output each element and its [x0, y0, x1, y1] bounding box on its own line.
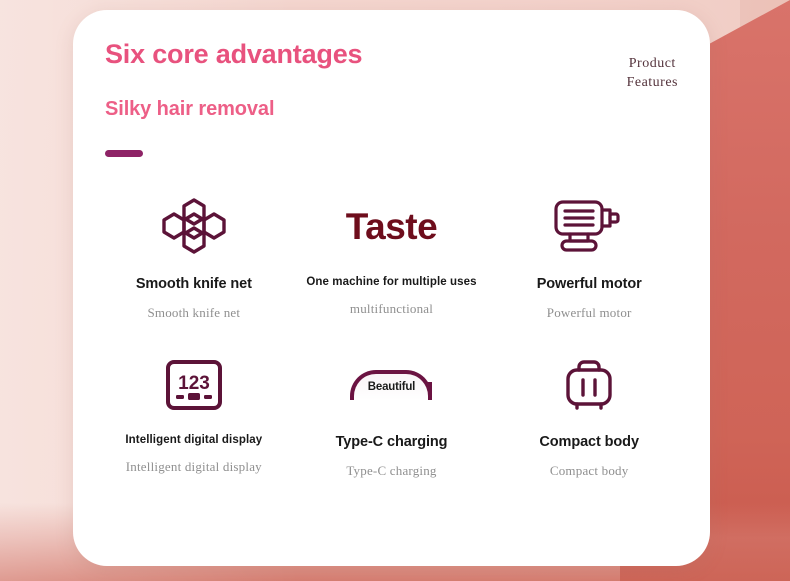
feature-card: Six core advantages Silky hair removal P…: [73, 10, 710, 566]
feature-title: Powerful motor: [537, 276, 642, 292]
beautiful-label: Beautiful: [350, 381, 432, 393]
taste-wordmark-icon: Taste: [346, 190, 437, 262]
card-header: Six core advantages Silky hair removal P…: [73, 10, 710, 190]
features-grid: Smooth knife net Smooth knife net Taste …: [73, 190, 710, 502]
feature-subtitle: Powerful motor: [547, 305, 632, 321]
svg-text:123: 123: [178, 373, 210, 394]
beautiful-swoosh-icon: Beautiful: [350, 352, 432, 420]
product-features-line-1: Product: [627, 55, 678, 74]
page-subtitle: Silky hair removal: [105, 98, 676, 121]
feature-subtitle: Smooth knife net: [147, 305, 240, 321]
product-features-label: Product Features: [627, 55, 678, 93]
feature-title: Compact body: [539, 434, 639, 450]
taste-wordmark-text: Taste: [346, 208, 437, 245]
feature-title: One machine for multiple uses: [306, 276, 476, 288]
feature-intelligent-digital-display[interactable]: 123 Intelligent digital display Intellig…: [95, 352, 293, 502]
honeycomb-icon: [161, 190, 227, 262]
feature-compact-body[interactable]: Compact body Compact body: [490, 352, 688, 502]
feature-subtitle: multifunctional: [350, 301, 433, 317]
feature-smooth-knife-net[interactable]: Smooth knife net Smooth knife net: [95, 190, 293, 352]
page-title: Six core advantages: [105, 40, 676, 70]
feature-multifunctional[interactable]: Taste One machine for multiple uses mult…: [293, 190, 491, 352]
feature-title: Intelligent digital display: [125, 434, 262, 446]
suitcase-icon: [561, 352, 617, 420]
feature-subtitle: Compact body: [550, 463, 629, 479]
beautiful-badge: Beautiful: [350, 368, 432, 404]
motor-icon: [552, 190, 626, 262]
feature-title: Type-C charging: [336, 434, 448, 450]
feature-subtitle: Type-C charging: [346, 463, 436, 479]
feature-powerful-motor[interactable]: Powerful motor Powerful motor: [490, 190, 688, 352]
feature-title: Smooth knife net: [136, 276, 252, 292]
product-features-line-2: Features: [627, 74, 678, 93]
accent-divider-bar: [105, 150, 143, 157]
feature-subtitle: Intelligent digital display: [126, 459, 262, 475]
feature-type-c-charging[interactable]: Beautiful Type-C charging Type-C chargin…: [293, 352, 491, 502]
digital-display-icon: 123: [164, 352, 224, 420]
